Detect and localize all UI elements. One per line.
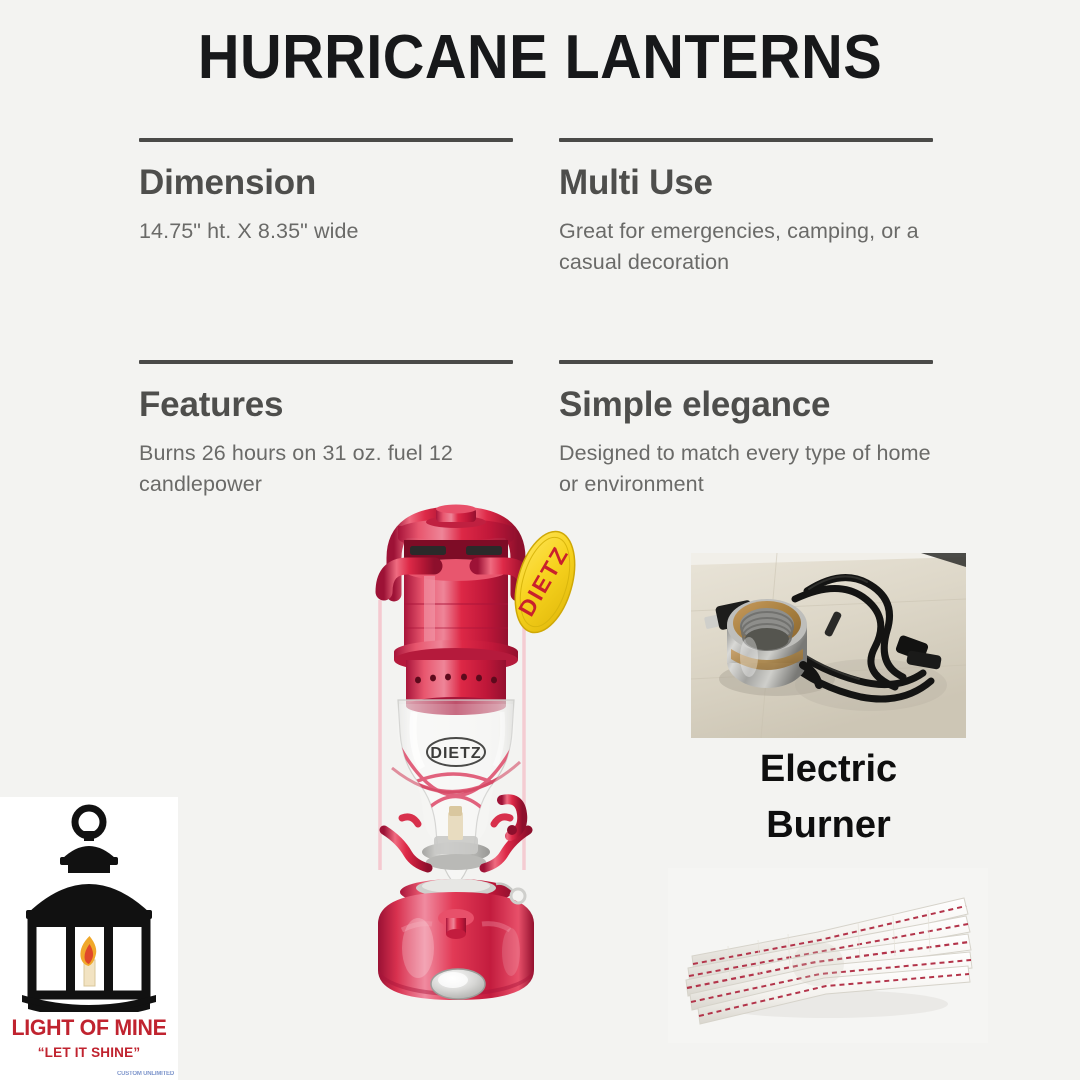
watermark: CUSTOM UNLIMITED [117, 1071, 174, 1077]
feature-grid: Dimension 14.75" ht. X 8.35" wide Multi … [139, 138, 939, 501]
divider-rule [559, 138, 933, 142]
feature-cell-dimension: Dimension 14.75" ht. X 8.35" wide [139, 138, 513, 279]
feature-heading: Features [139, 387, 513, 424]
feature-heading: Multi Use [559, 165, 933, 202]
feature-body: 14.75" ht. X 8.35" wide [139, 216, 513, 248]
feature-cell-simple-elegance: Simple elegance Designed to match every … [559, 360, 933, 501]
light-of-mine-lantern-icon [0, 797, 178, 1012]
wicks-illustration [668, 868, 988, 1043]
electric-burner-illustration [691, 553, 966, 738]
lantern-wicks-photo [668, 868, 988, 1043]
product-infographic: HURRICANE LANTERNS Dimension 14.75" ht. … [0, 0, 1080, 1080]
feature-row: Dimension 14.75" ht. X 8.35" wide Multi … [139, 138, 939, 279]
feature-row: Features Burns 26 hours on 31 oz. fuel 1… [139, 360, 939, 501]
lantern-illustration: DIETZ [306, 500, 606, 1080]
brand-logo: LIGHT OF MINE “LET IT SHINE” CUSTOM UNLI… [0, 797, 178, 1080]
brand-tagline: “LET IT SHINE” [0, 1045, 178, 1060]
feature-body: Burns 26 hours on 31 oz. fuel 12 candlep… [139, 438, 513, 501]
divider-rule [559, 360, 933, 364]
feature-body: Great for emergencies, camping, or a cas… [559, 216, 933, 279]
divider-rule [139, 360, 513, 364]
burner-caption-line-1: Electric [691, 742, 966, 798]
svg-text:DIETZ: DIETZ [430, 745, 481, 762]
burner-caption-line-2: Burner [691, 798, 966, 854]
electric-burner-caption: Electric Burner [691, 742, 966, 854]
feature-heading: Dimension [139, 165, 513, 202]
feature-cell-multi-use: Multi Use Great for emergencies, camping… [559, 138, 933, 279]
lantern-product-image: DIETZ [306, 500, 606, 1080]
feature-cell-features: Features Burns 26 hours on 31 oz. fuel 1… [139, 360, 513, 501]
electric-burner-photo [691, 553, 966, 738]
brand-name: LIGHT OF MINE [3, 1015, 176, 1041]
feature-body: Designed to match every type of home or … [559, 438, 933, 501]
page-title: HURRICANE LANTERNS [38, 22, 1042, 93]
feature-heading: Simple elegance [559, 387, 933, 424]
divider-rule [139, 138, 513, 142]
